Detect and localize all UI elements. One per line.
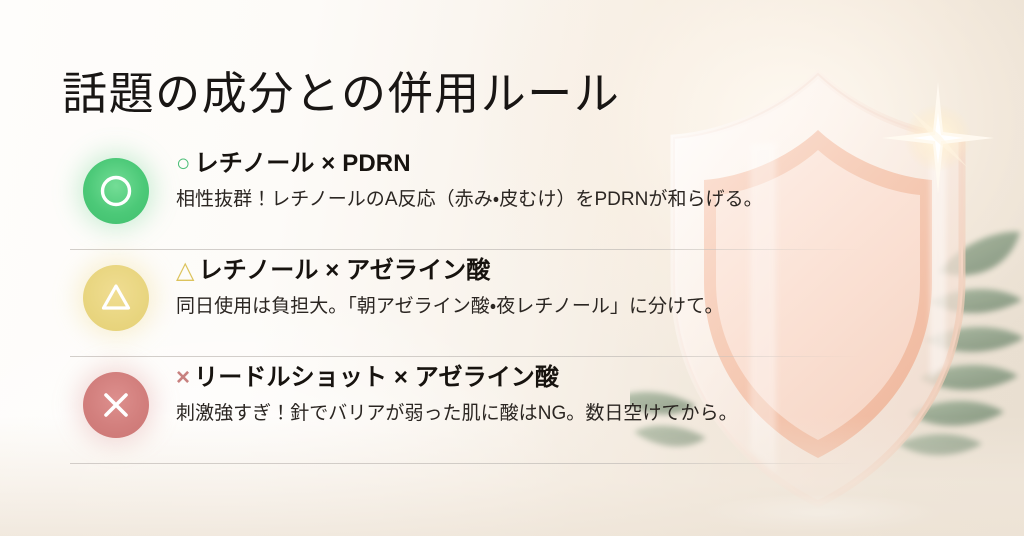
rule-text-block: △レチノール × アゼライン酸 同日使用は負担大。「朝アゼライン酸・夜レチノール… [162, 250, 724, 320]
rule-badge-ng [70, 359, 162, 451]
rule-heading-label: レチノール × アゼライン酸 [199, 257, 491, 284]
rule-heading: ○レチノール × PDRN [176, 149, 763, 179]
rule-description: 相性抜群！レチノールのA反応（赤み・皮むけ）をPDRNが和らげる。 [176, 187, 763, 213]
rule-row-ng: ×リードルショット × アゼライン酸 刺激強すぎ！針でバリアが弱った肌に酸はNG… [0, 357, 1024, 464]
rule-row-ok: ○レチノール × PDRN 相性抜群！レチノールのA反応（赤み・皮むけ）をPDR… [0, 143, 1024, 250]
rule-badge-ok [70, 145, 162, 237]
page-title: 話題の成分との併用ルール [62, 68, 620, 120]
rule-badge-caution [70, 252, 162, 344]
rule-heading: △レチノール × アゼライン酸 [176, 256, 724, 286]
rule-heading: ×リードルショット × アゼライン酸 [176, 363, 738, 393]
status-mark-ng: × [176, 364, 190, 391]
rule-description: 同日使用は負担大。「朝アゼライン酸・夜レチノール」に分けて。 [176, 294, 724, 320]
rule-text-block: ×リードルショット × アゼライン酸 刺激強すぎ！針でバリアが弱った肌に酸はNG… [162, 357, 738, 427]
status-mark-caution: △ [176, 257, 195, 284]
circle-outline-icon [83, 158, 149, 224]
status-mark-ok: ○ [176, 150, 191, 177]
triangle-outline-icon [83, 265, 149, 331]
rule-heading-label: リードルショット × アゼライン酸 [194, 364, 559, 391]
rules-list: ○レチノール × PDRN 相性抜群！レチノールのA反応（赤み・皮むけ）をPDR… [0, 143, 1024, 464]
rule-heading-label: レチノール × PDRN [195, 150, 411, 177]
rule-text-block: ○レチノール × PDRN 相性抜群！レチノールのA反応（赤み・皮むけ）をPDR… [162, 143, 763, 213]
rule-description: 刺激強すぎ！針でバリアが弱った肌に酸はNG。数日空けてから。 [176, 401, 738, 427]
infographic-canvas: 話題の成分との併用ルール ○レチノール × PDRN 相性抜群！レチ [0, 0, 1024, 536]
cross-icon [83, 372, 149, 438]
rule-row-caution: △レチノール × アゼライン酸 同日使用は負担大。「朝アゼライン酸・夜レチノール… [0, 250, 1024, 357]
